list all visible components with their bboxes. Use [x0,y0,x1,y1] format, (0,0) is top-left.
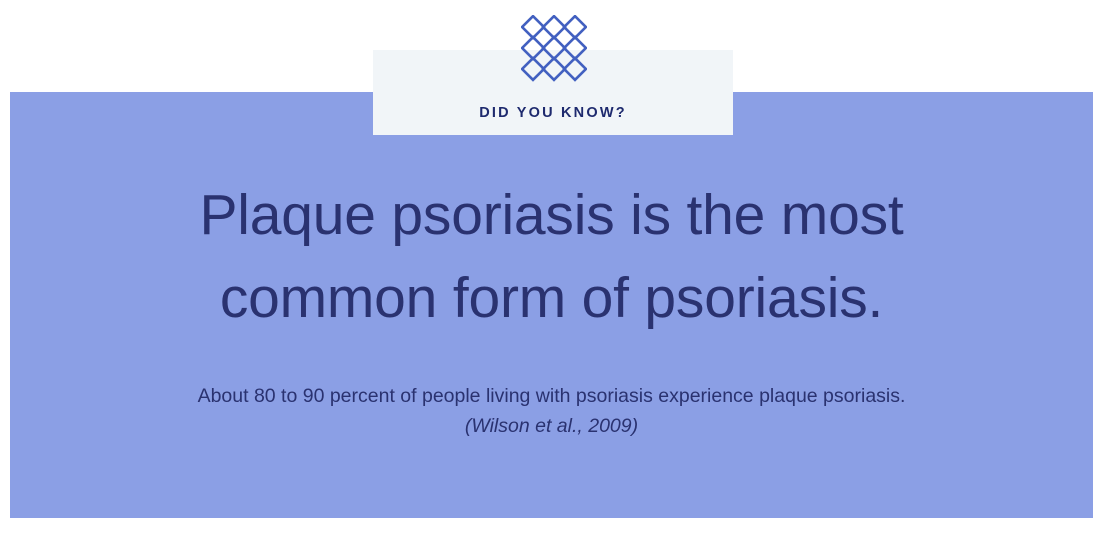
fact-headline: Plaque psoriasis is the most common form… [102,174,1002,340]
slide-canvas: DID YOU KNOW? Plaque psoriasis is the mo… [0,0,1108,536]
fact-citation: (Wilson et al., 2009) [137,412,967,442]
diamond-lattice-icon [521,15,587,87]
fact-content: Plaque psoriasis is the most common form… [10,92,1093,518]
did-you-know-label: DID YOU KNOW? [373,105,733,121]
fact-body-text: About 80 to 90 percent of people living … [137,382,967,412]
